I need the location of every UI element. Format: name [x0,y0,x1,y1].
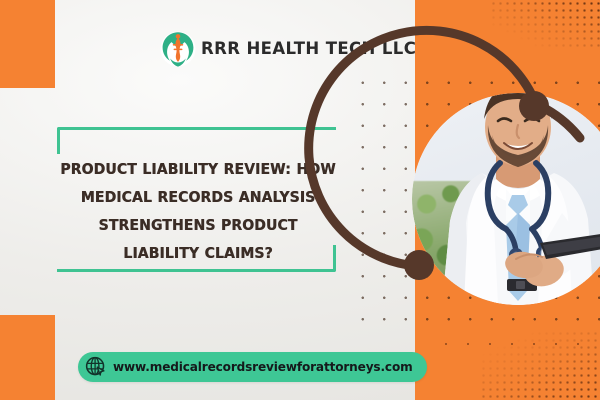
website-url-text: www.medicalrecordsreviewforattorneys.com [113,361,413,373]
orange-block-bottom-left [0,315,55,400]
globe-cursor-icon [85,356,107,378]
poster-canvas: RRR HEALTH TECH LLC PRODUCT LIABILITY RE… [0,0,600,400]
medical-caduceus-leaf-logo-icon [158,28,198,70]
halftone-dots-top-right [490,0,600,48]
orange-block-top-left [0,0,55,88]
website-url-pill[interactable]: www.medicalrecordsreviewforattorneys.com [78,352,427,382]
brand-name-text: RRR HEALTH TECH LLC [201,41,416,58]
brand-header: RRR HEALTH TECH LLC [158,28,416,70]
bracket-corner-top-left [57,127,336,154]
page-title: PRODUCT LIABILITY REVIEW: HOW MEDICAL RE… [60,155,336,267]
halftone-dots-bottom-right [480,330,600,400]
